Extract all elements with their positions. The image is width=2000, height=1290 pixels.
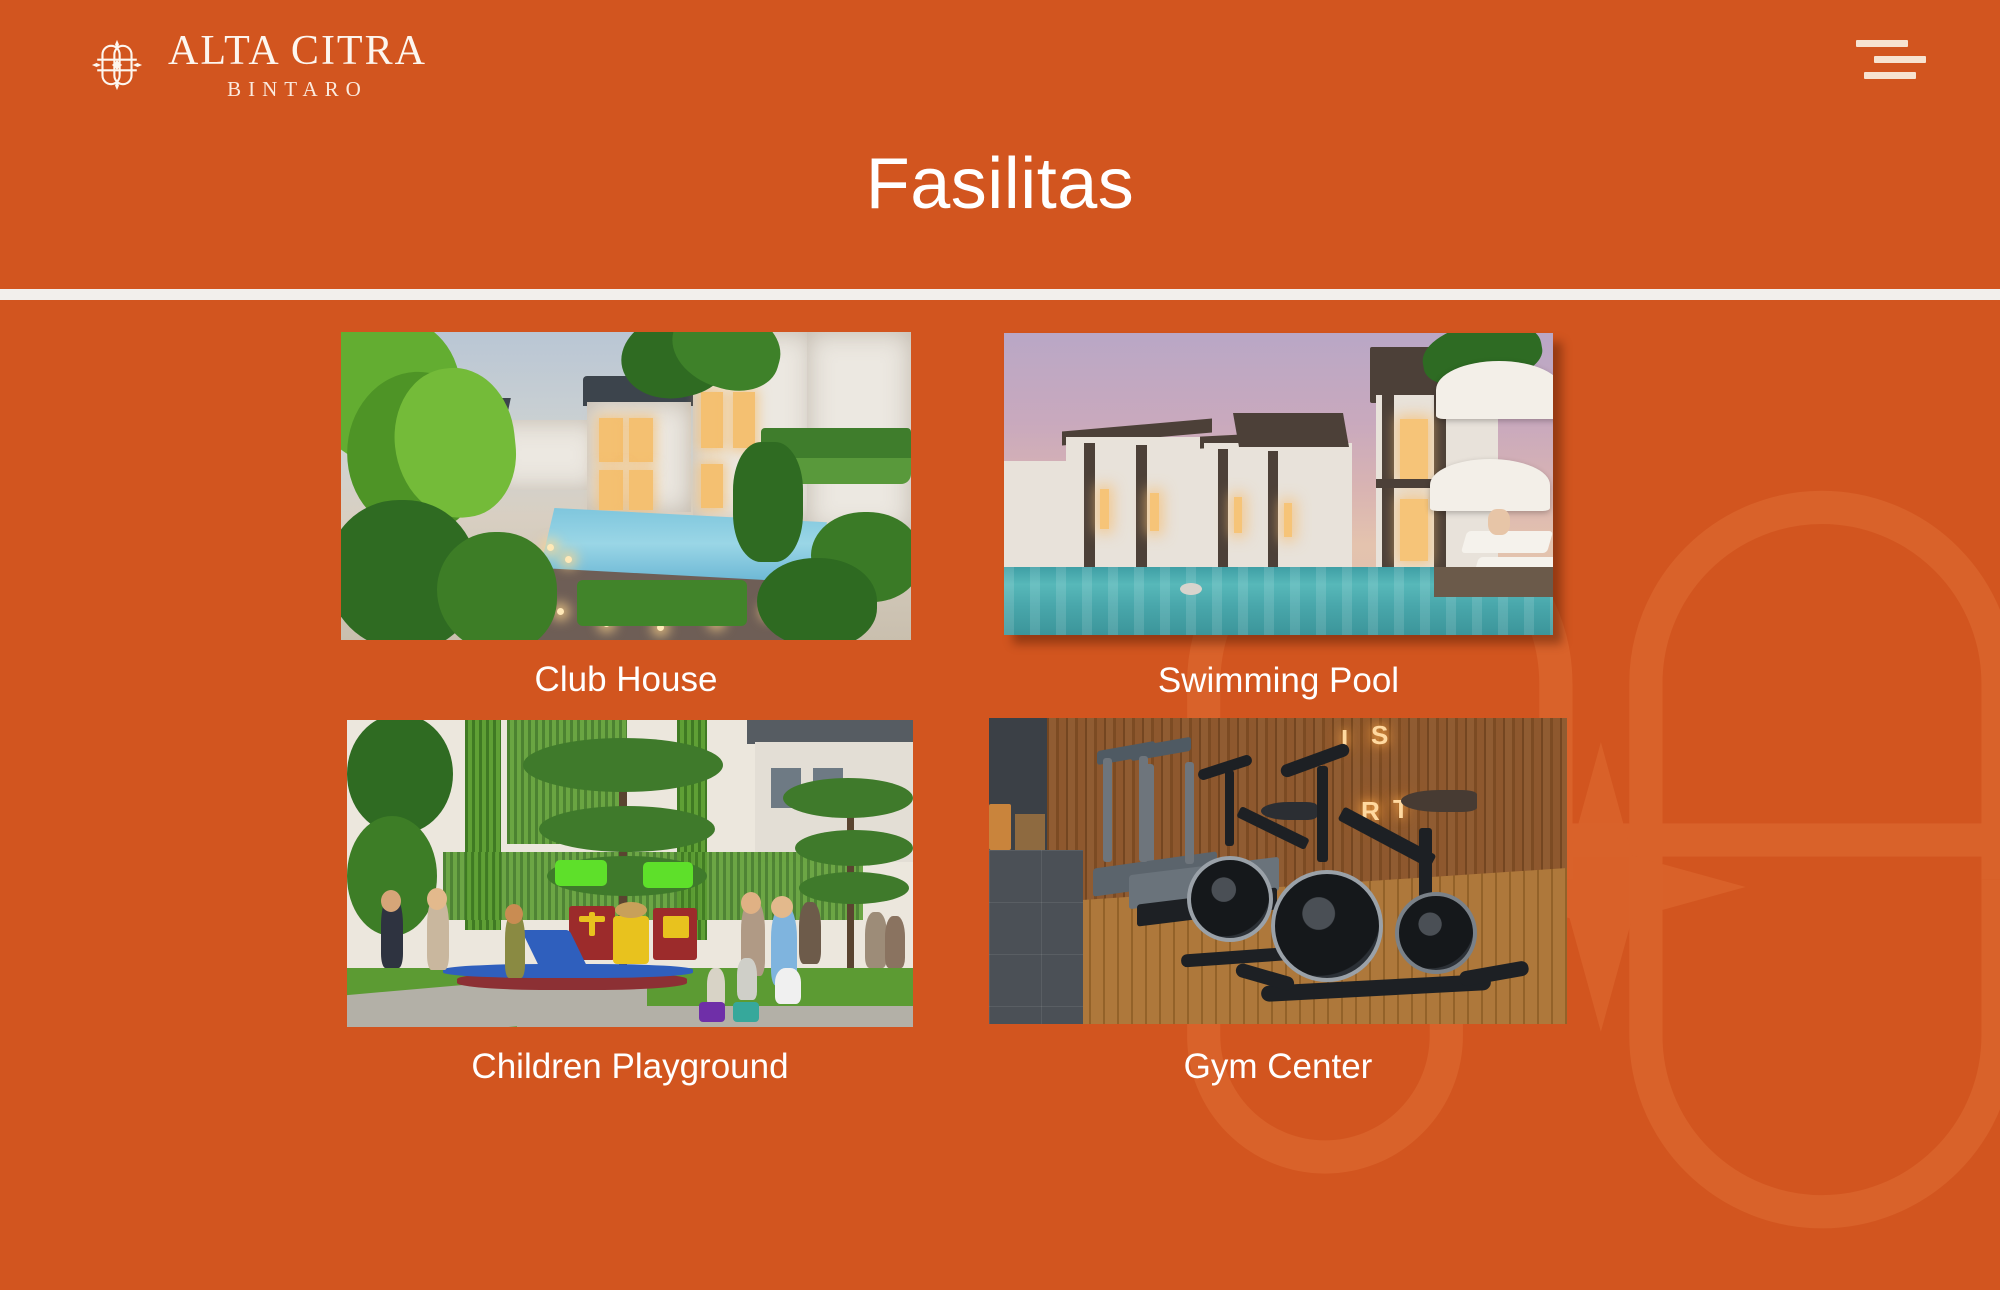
club-house-photo[interactable]	[341, 332, 911, 640]
brand-logo[interactable]: ALTA CITRA BINTARO	[84, 30, 427, 100]
brand-wordmark: ALTA CITRA BINTARO	[168, 30, 427, 100]
page-header: ALTA CITRA BINTARO Fasilitas	[0, 0, 2000, 290]
page-title: Fasilitas	[0, 148, 2000, 220]
facility-card-children-playground[interactable]: Children Playground	[347, 720, 913, 1084]
brand-tagline: BINTARO	[227, 79, 368, 100]
alta-citra-emblem-icon	[84, 32, 150, 98]
menu-bar-top	[1856, 40, 1908, 47]
menu-bar-middle	[1874, 56, 1926, 63]
facility-caption: Gym Center	[989, 1049, 1567, 1084]
brand-name: ALTA CITRA	[168, 30, 427, 72]
facility-caption: Swimming Pool	[1004, 663, 1553, 698]
facility-caption: Children Playground	[347, 1049, 913, 1084]
facility-card-club-house[interactable]: Club House	[341, 332, 911, 697]
menu-bar-bottom	[1864, 72, 1916, 79]
facility-card-gym-center[interactable]: I S R T	[989, 718, 1567, 1084]
facility-caption: Club House	[341, 662, 911, 697]
swimming-pool-photo[interactable]	[1004, 333, 1553, 635]
facility-card-swimming-pool[interactable]: Swimming Pool	[1004, 333, 1553, 698]
gym-center-photo[interactable]: I S R T	[989, 718, 1567, 1024]
header-divider	[0, 289, 2000, 300]
children-playground-photo[interactable]	[347, 720, 913, 1027]
facilities-grid: Club House	[0, 300, 2000, 1125]
hamburger-menu-icon[interactable]	[1854, 34, 1938, 84]
